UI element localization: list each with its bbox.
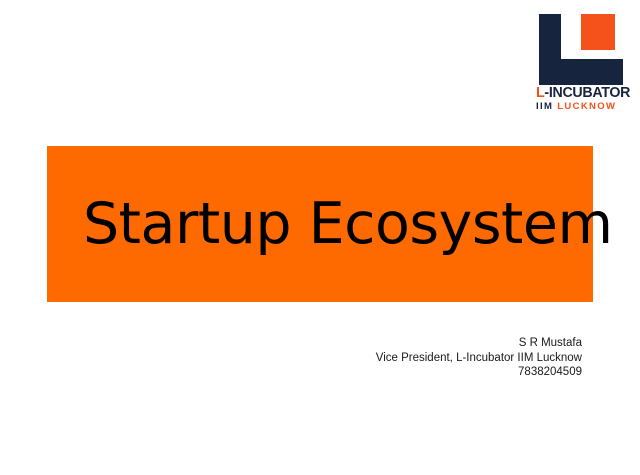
slide-title: Startup Ecosystem: [47, 192, 612, 256]
presentation-slide: L-INCUBATOR IIM LUCKNOW Startup Ecosyste…: [0, 0, 640, 475]
logo-wordmark: L-INCUBATOR IIM LUCKNOW: [536, 86, 628, 113]
title-banner: Startup Ecosystem: [47, 146, 593, 302]
logo-wordmark-initial: L: [536, 85, 544, 101]
l-incubator-logo-mark-icon: [536, 11, 628, 87]
byline-presenter-role: Vice President, L-Incubator IIM Lucknow: [300, 351, 582, 366]
logo-wordmark-secondary: IIM LUCKNOW: [536, 101, 628, 113]
logo-orange-square: [581, 14, 615, 50]
logo-l-horizontal-bar: [539, 59, 623, 85]
byline-presenter-name: S R Mustafa: [300, 336, 582, 351]
logo-wordmark-rest: -INCUBATOR: [544, 85, 630, 101]
logo-wordmark-city: LUCKNOW: [557, 101, 616, 112]
byline-block: S R Mustafa Vice President, L-Incubator …: [300, 336, 582, 380]
l-incubator-logo: L-INCUBATOR IIM LUCKNOW: [536, 11, 628, 111]
logo-wordmark-institute: IIM: [536, 101, 553, 112]
byline-presenter-phone: 7838204509: [300, 365, 582, 380]
logo-wordmark-primary: L-INCUBATOR: [536, 86, 626, 100]
